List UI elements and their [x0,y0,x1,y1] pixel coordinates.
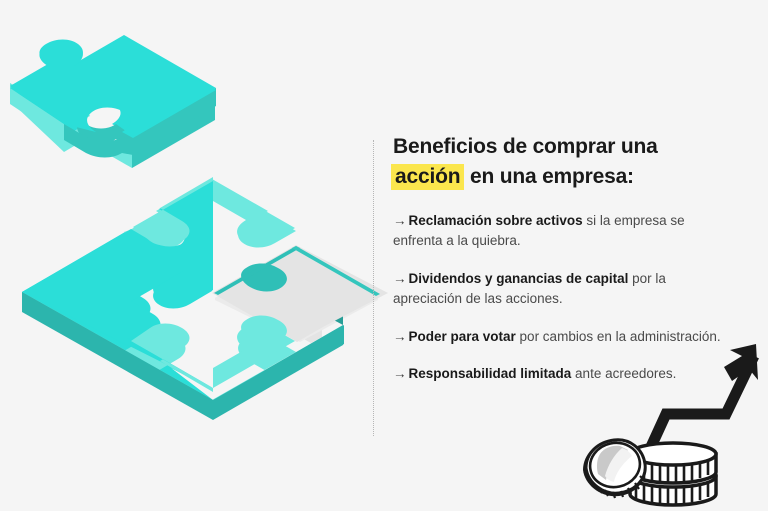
coins-illustration [578,432,718,511]
floating-piece-final [10,37,216,158]
title-line-1: Beneficios de comprar una [393,135,658,158]
puzzle-board-clean [22,177,381,419]
benefit-item: →Dividendos y ganancias de capital por l… [393,269,723,310]
benefit-title: Dividendos y ganancias de capital [409,271,629,286]
benefit-title: Reclamación sobre activos [409,213,583,228]
benefit-title: Poder para votar [409,329,516,344]
page-title: Beneficios de comprar una acción en una … [393,133,723,191]
benefit-title: Responsabilidad limitada [409,366,572,381]
title-line-2-rest: en una empresa: [464,165,634,188]
vertical-dotted-divider [373,140,374,436]
arrow-marker-icon: → [393,366,407,381]
title-line-2: acción en una empresa: [393,163,723,191]
title-highlight: acción [391,164,464,190]
benefit-item: →Reclamación sobre activos si la empresa… [393,211,723,252]
arrow-marker-icon: → [393,271,407,286]
infographic-canvas: Beneficios de comprar una acción en una … [0,0,768,511]
puzzle-illustration [0,0,400,470]
arrow-marker-icon: → [393,329,407,344]
arrow-marker-icon: → [393,213,407,228]
